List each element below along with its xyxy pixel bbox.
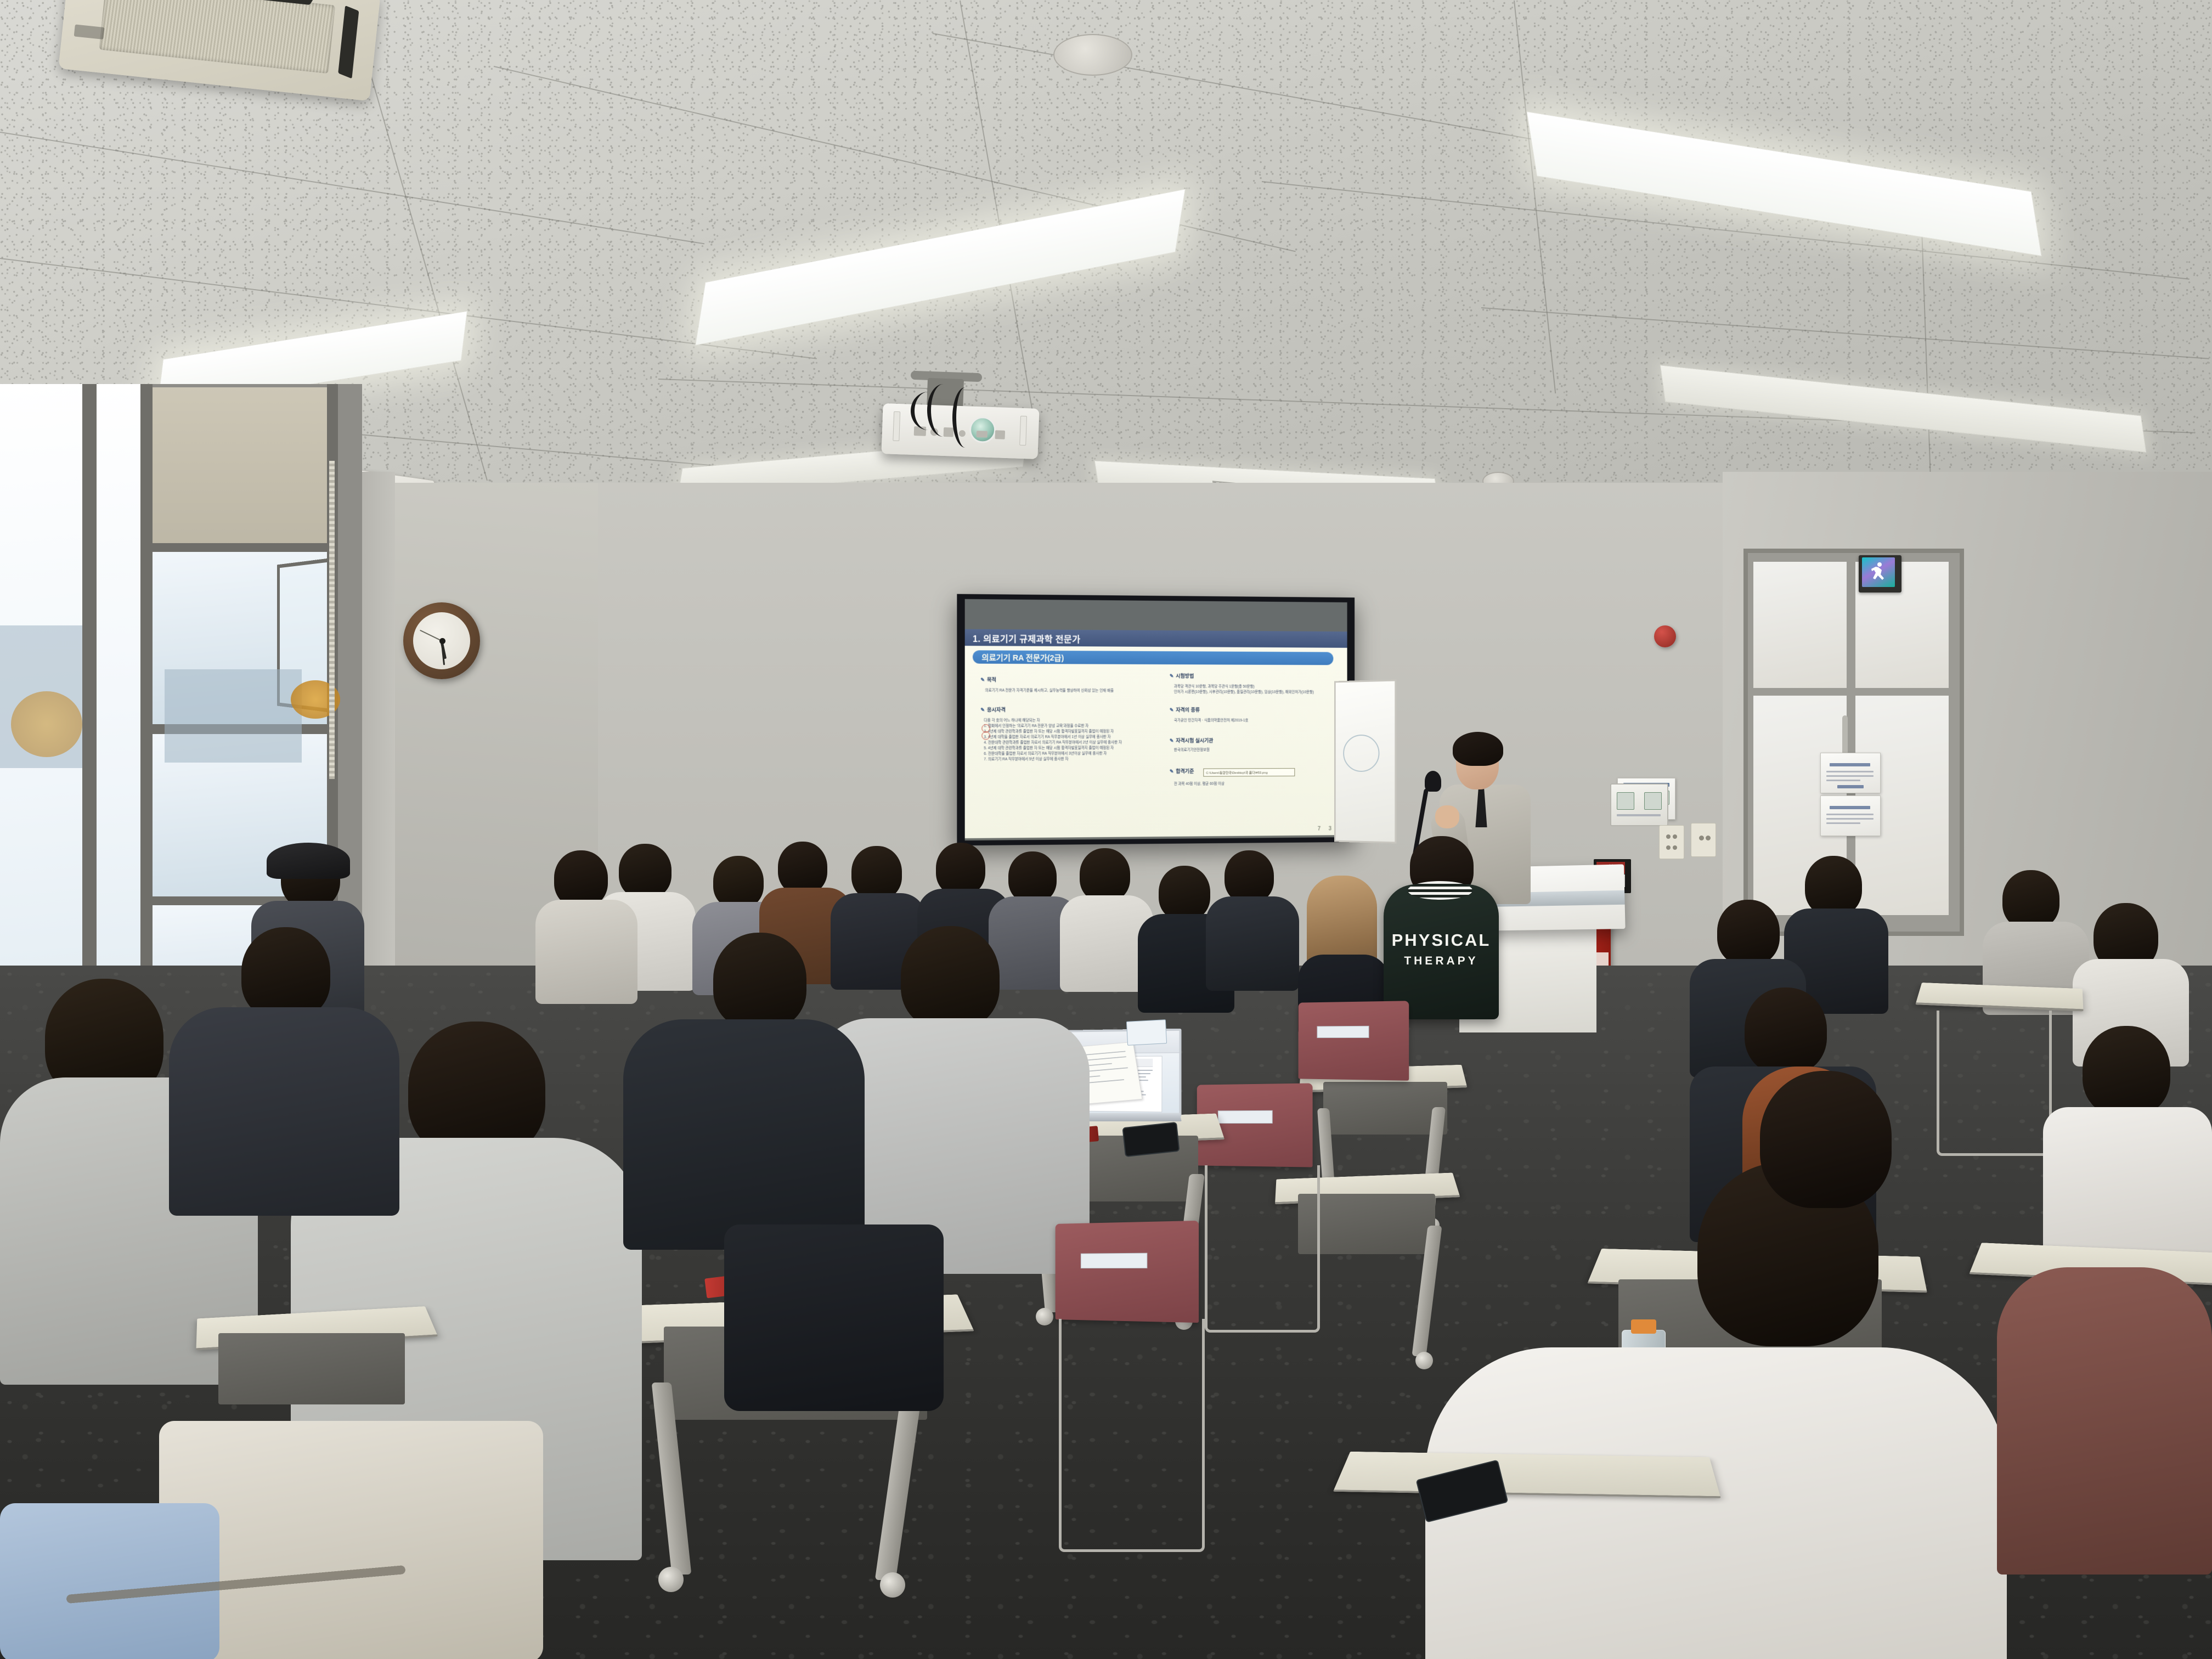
student-desk: [1333, 1452, 1721, 1498]
ceiling-speaker: [1053, 34, 1132, 76]
student-head: [1805, 856, 1862, 916]
window-roller-blind[interactable]: [153, 387, 334, 549]
slide-red-circle-annotation: [981, 731, 990, 740]
student-torso: [1206, 896, 1299, 991]
window-vertical-blind-cord[interactable]: [329, 461, 335, 779]
student-head: [851, 846, 902, 900]
student-head: [2002, 870, 2059, 929]
slide-subtitle: 의료기기 RA 전문가(2급): [981, 652, 1064, 663]
desk-modesty-panel: [1323, 1082, 1447, 1135]
slide-heading-exam-method: 시험방법: [1170, 672, 1194, 679]
slide-letterbox-top: [965, 599, 1347, 631]
exit-sign-panel: [1862, 557, 1895, 587]
slide-body-exam-body: 한국의료기기안전정보원: [1174, 747, 1314, 753]
slide-title: 1. 의료기기 규제과학 전문가: [973, 631, 1080, 645]
smartphone[interactable]: [1122, 1122, 1180, 1157]
whiteboard-logo: [1343, 735, 1379, 772]
slide-body-eligibility: 다음 각 호의 어느 하나에 해당되는 자 1. 협회에서 인정하는 '의료기기…: [984, 718, 1161, 763]
chair-frame: [1937, 1011, 2052, 1156]
jacket-text-therapy: THERAPY: [1384, 955, 1499, 968]
ac-grille: [99, 0, 335, 74]
wall-notice-poster: [1820, 753, 1881, 793]
student-head: [241, 927, 330, 1019]
chair: [1299, 1001, 1409, 1080]
wall-notice-poster: [1820, 795, 1881, 836]
slide-heading-eligibility: 응시자격: [980, 706, 1006, 713]
window-pane: [97, 384, 143, 1042]
slide-body-purpose: 의료기기 RA 전문가 자격기준을 제시하고, 실무능력을 향상하여 신뢰성 있…: [985, 688, 1151, 694]
presenter-hair: [1453, 732, 1503, 766]
id-badge-card: [1126, 1019, 1167, 1046]
student-torso: [169, 1007, 399, 1216]
fire-alarm-bell: [1654, 625, 1676, 647]
student-head: [901, 926, 1000, 1029]
backpack: [724, 1224, 944, 1411]
slide-body-cert-type: 국가공인 민간자격 · 식품의약품안전처 제2019-1호: [1174, 718, 1330, 724]
student-head: [619, 844, 672, 899]
student-head: [713, 933, 806, 1029]
chair-frame: [1059, 1319, 1205, 1552]
student-head: [554, 850, 608, 907]
student-cap: [267, 843, 350, 879]
student-head: [1008, 851, 1057, 903]
presentation-slide: 1. 의료기기 규제과학 전문가 의료기기 RA 전문가(2급) 목적 의료기기…: [965, 629, 1347, 838]
student-head: [1745, 988, 1827, 1074]
chair: [1056, 1221, 1199, 1323]
slide-file-path-callout: C:\Users\동양한국\Desktop\국 품다\#53.png: [1203, 768, 1295, 777]
lecture-hall-photo: 1. 의료기기 규제과학 전문가 의료기기 RA 전문가(2급) 목적 의료기기…: [0, 0, 2212, 1659]
desk-caster: [1036, 1308, 1053, 1325]
student-torso: [1425, 1347, 2007, 1659]
student-head: [1224, 850, 1274, 903]
student-head: [1760, 1071, 1892, 1208]
varsity-collar: [1408, 881, 1472, 900]
slide-heading-pass-criteria: 합격기준: [1170, 768, 1194, 775]
student-head: [713, 856, 764, 909]
slide-subtitle-banner: 의료기기 RA 전문가(2급): [973, 650, 1333, 665]
desk-modesty-panel: [218, 1333, 405, 1404]
jacket-text-physical: PHYSICAL: [1384, 930, 1499, 950]
slide-heading-exam-body: 자격시험 실시기관: [1170, 737, 1214, 744]
presenter-hand: [1435, 805, 1459, 828]
student-torso: [623, 1019, 865, 1250]
running-person-exit-icon: [1869, 561, 1888, 583]
wall-power-outlet[interactable]: [1659, 825, 1684, 859]
desk-caster: [1415, 1352, 1433, 1369]
bottle-cap: [1631, 1319, 1656, 1334]
whiteboard: [1334, 679, 1396, 843]
student-head: [2083, 1026, 2170, 1117]
emergency-exit-sign: [1859, 555, 1901, 592]
projector-cable: [952, 387, 978, 448]
door-handle[interactable]: [1842, 715, 1848, 755]
chair-label: [1317, 1026, 1369, 1038]
varsity-jacket: PHYSICAL THERAPY: [1384, 884, 1499, 1019]
projector-cable: [911, 392, 946, 430]
wall-power-outlet[interactable]: [1691, 823, 1716, 857]
student-head: [1717, 900, 1780, 966]
desk-caster: [880, 1572, 905, 1598]
student-torso: [535, 900, 637, 1004]
slide-heading-cert-type: 자격의 종류: [1170, 706, 1200, 713]
student-head: [1080, 848, 1130, 902]
student-head: [1159, 866, 1210, 921]
projection-screen: 1. 의료기기 규제과학 전문가 의료기기 RA 전문가(2급) 목적 의료기기…: [957, 594, 1355, 846]
slide-body-pass-criteria: 전 과목 40점 이상, 평균 60점 이상: [1174, 781, 1314, 787]
door-window-pane: [1753, 562, 1847, 688]
desk-caster: [658, 1567, 684, 1592]
slide-title-bar: 1. 의료기기 규제과학 전문가: [965, 629, 1347, 648]
chair-frame: [1205, 1165, 1320, 1333]
student-torso: [1997, 1267, 2212, 1575]
projection-surface: 1. 의료기기 규제과학 전문가 의료기기 RA 전문가(2급) 목적 의료기기…: [965, 599, 1347, 840]
student-head: [936, 843, 985, 895]
draped-coat: [0, 1503, 219, 1659]
microphone[interactable]: [1425, 771, 1441, 792]
slide-heading-purpose: 목적: [980, 676, 996, 683]
slide-body-exam-method: 과목당 객관식 10문항, 과목당 주관식 1문항(총 50문항) 인허가 시론…: [1174, 684, 1335, 696]
chair-label: [1218, 1110, 1273, 1124]
student-head: [778, 842, 827, 894]
wall-clock: [403, 602, 480, 679]
chair-label: [1081, 1253, 1148, 1268]
clock-face: [413, 612, 470, 669]
wall-control-panel[interactable]: [1610, 783, 1668, 826]
clock-second-hand: [420, 630, 442, 641]
